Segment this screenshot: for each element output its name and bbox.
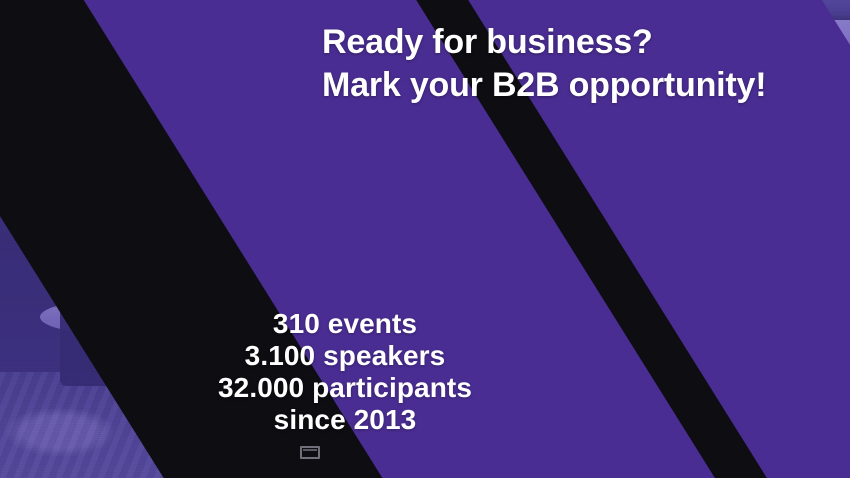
- statistics-block: 310 events 3.100 speakers 32.000 partici…: [105, 308, 585, 436]
- promo-banner: Business Mark JURNALUL DE AFACERI: [0, 0, 850, 478]
- stat-participants: 32.000 participants: [105, 372, 585, 404]
- stat-since-year: since 2013: [105, 404, 585, 436]
- headline-line-1: Ready for business?: [322, 21, 832, 64]
- headline-line-2: Mark your B2B opportunity!: [322, 64, 832, 107]
- stat-speakers: 3.100 speakers: [105, 340, 585, 372]
- stat-events: 310 events: [105, 308, 585, 340]
- small-marker-icon: [300, 446, 320, 459]
- headline: Ready for business? Mark your B2B opport…: [322, 21, 832, 107]
